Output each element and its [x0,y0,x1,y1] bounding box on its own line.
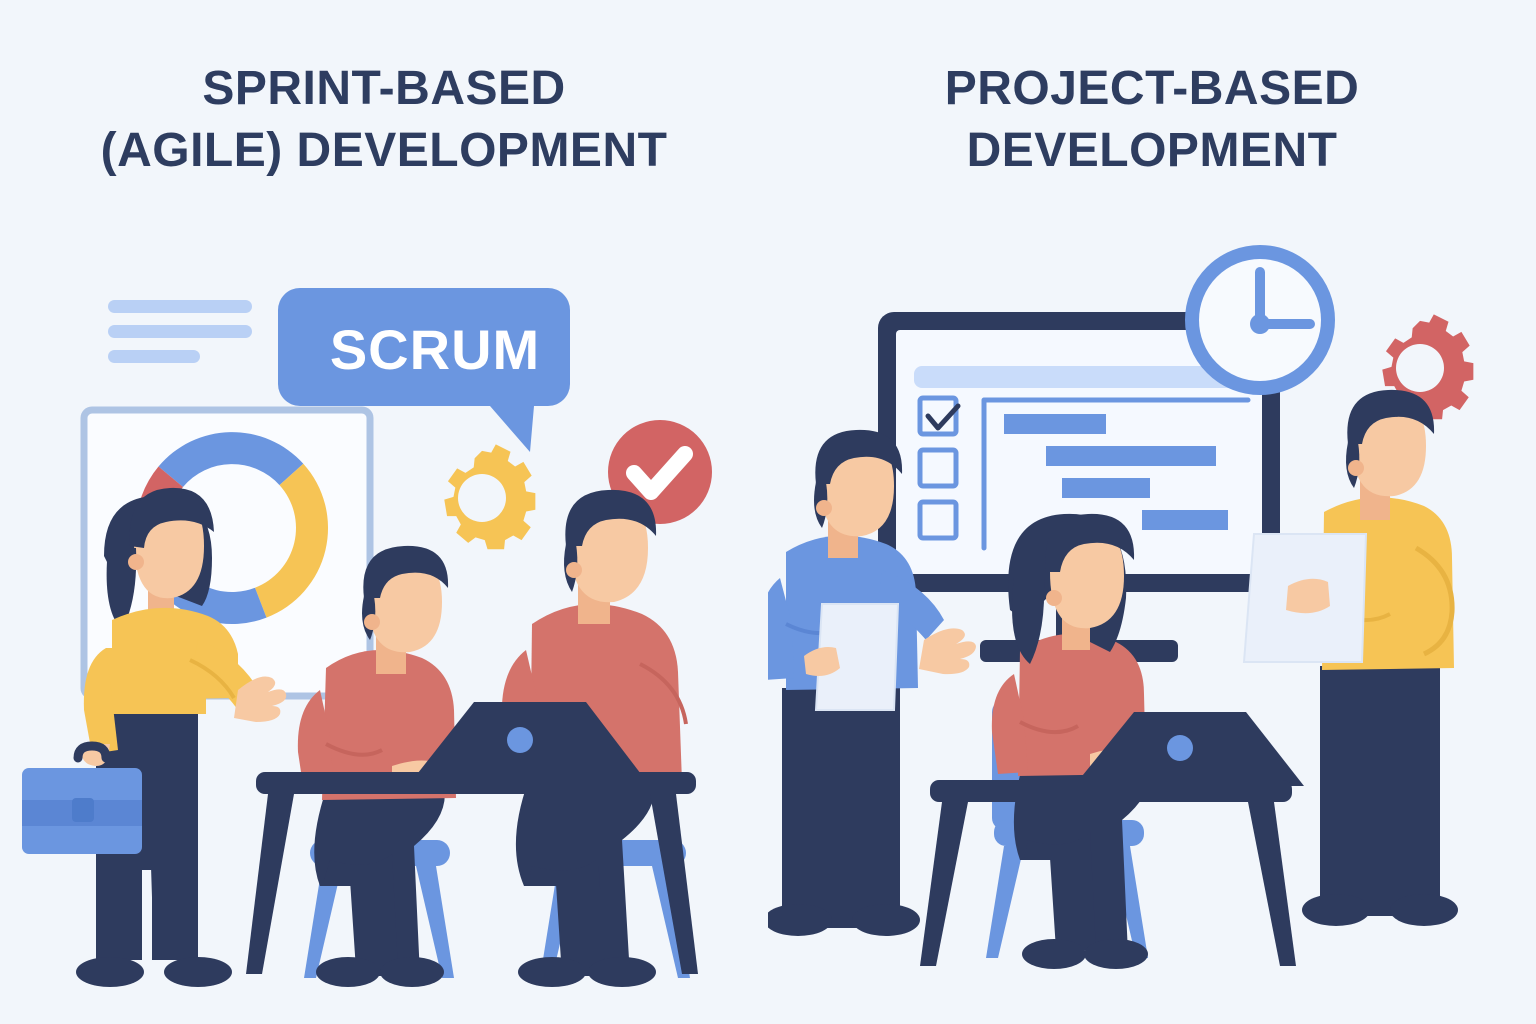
gantt-bar [1062,478,1150,498]
panel-sprint-based-agile: SPRINT-BASED (AGILE) DEVELOPMENT [0,0,768,1024]
left-panel-illustration [0,0,768,1024]
infographic-canvas: SPRINT-BASED (AGILE) DEVELOPMENT [0,0,1536,1024]
decorative-text-lines [108,300,252,363]
right-panel-illustration [768,0,1536,1024]
gantt-bar [1004,414,1106,434]
scrum-bubble-label: SCRUM [290,302,580,396]
gantt-bar [1046,446,1216,466]
gear-icon [444,444,535,549]
screen-header-bar [914,366,1244,388]
clock-icon [1192,252,1328,388]
panel-project-based: PROJECT-BASED DEVELOPMENT [768,0,1536,1024]
gantt-bar [1142,510,1228,530]
